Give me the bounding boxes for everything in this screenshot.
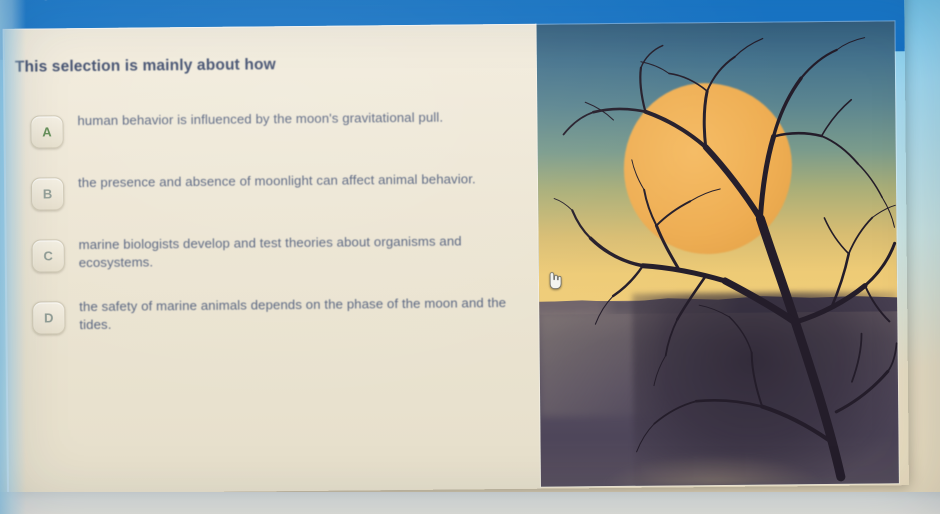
answer-option-c[interactable]: C marine biologists develop and test the… <box>14 226 532 277</box>
option-text-c[interactable]: marine biologists develop and test theor… <box>78 226 532 271</box>
illustration-panel <box>537 21 899 486</box>
instruction-line-secondary: Then press the Submit button. <box>10 0 194 1</box>
moon-and-tree-photograph <box>537 21 899 486</box>
question-stem: This selection is mainly about how <box>15 54 515 77</box>
question-panel: This selection is mainly about how A hum… <box>3 24 541 494</box>
hillside-foreground-tan <box>605 454 820 486</box>
answer-option-a[interactable]: A human behavior is influenced by the mo… <box>13 102 531 153</box>
option-text-d[interactable]: the safety of marine animals depends on … <box>79 288 533 333</box>
option-text-b[interactable]: the presence and absence of moonlight ca… <box>78 164 532 192</box>
option-letter-badge-d[interactable]: D <box>32 301 65 334</box>
desk-surface-strip <box>0 492 940 514</box>
hand-pointer-cursor-icon <box>547 271 563 289</box>
hillside-silhouette <box>539 298 899 486</box>
answer-option-d[interactable]: D the safety of marine animals depends o… <box>15 288 533 339</box>
photographed-screen: Select the correct answer. Then press th… <box>0 0 940 514</box>
quiz-body: This selection is mainly about how A hum… <box>0 0 909 494</box>
answer-option-b[interactable]: B the presence and absence of moonlight … <box>14 164 532 215</box>
option-text-a[interactable]: human behavior is influenced by the moon… <box>77 102 531 130</box>
option-letter-badge-b[interactable]: B <box>31 177 64 210</box>
answer-option-list: A human behavior is influenced by the mo… <box>13 102 533 355</box>
option-letter-badge-a[interactable]: A <box>30 115 63 148</box>
quiz-application-window: Select the correct answer. Then press th… <box>0 0 909 494</box>
option-letter-badge-c[interactable]: C <box>32 239 65 272</box>
